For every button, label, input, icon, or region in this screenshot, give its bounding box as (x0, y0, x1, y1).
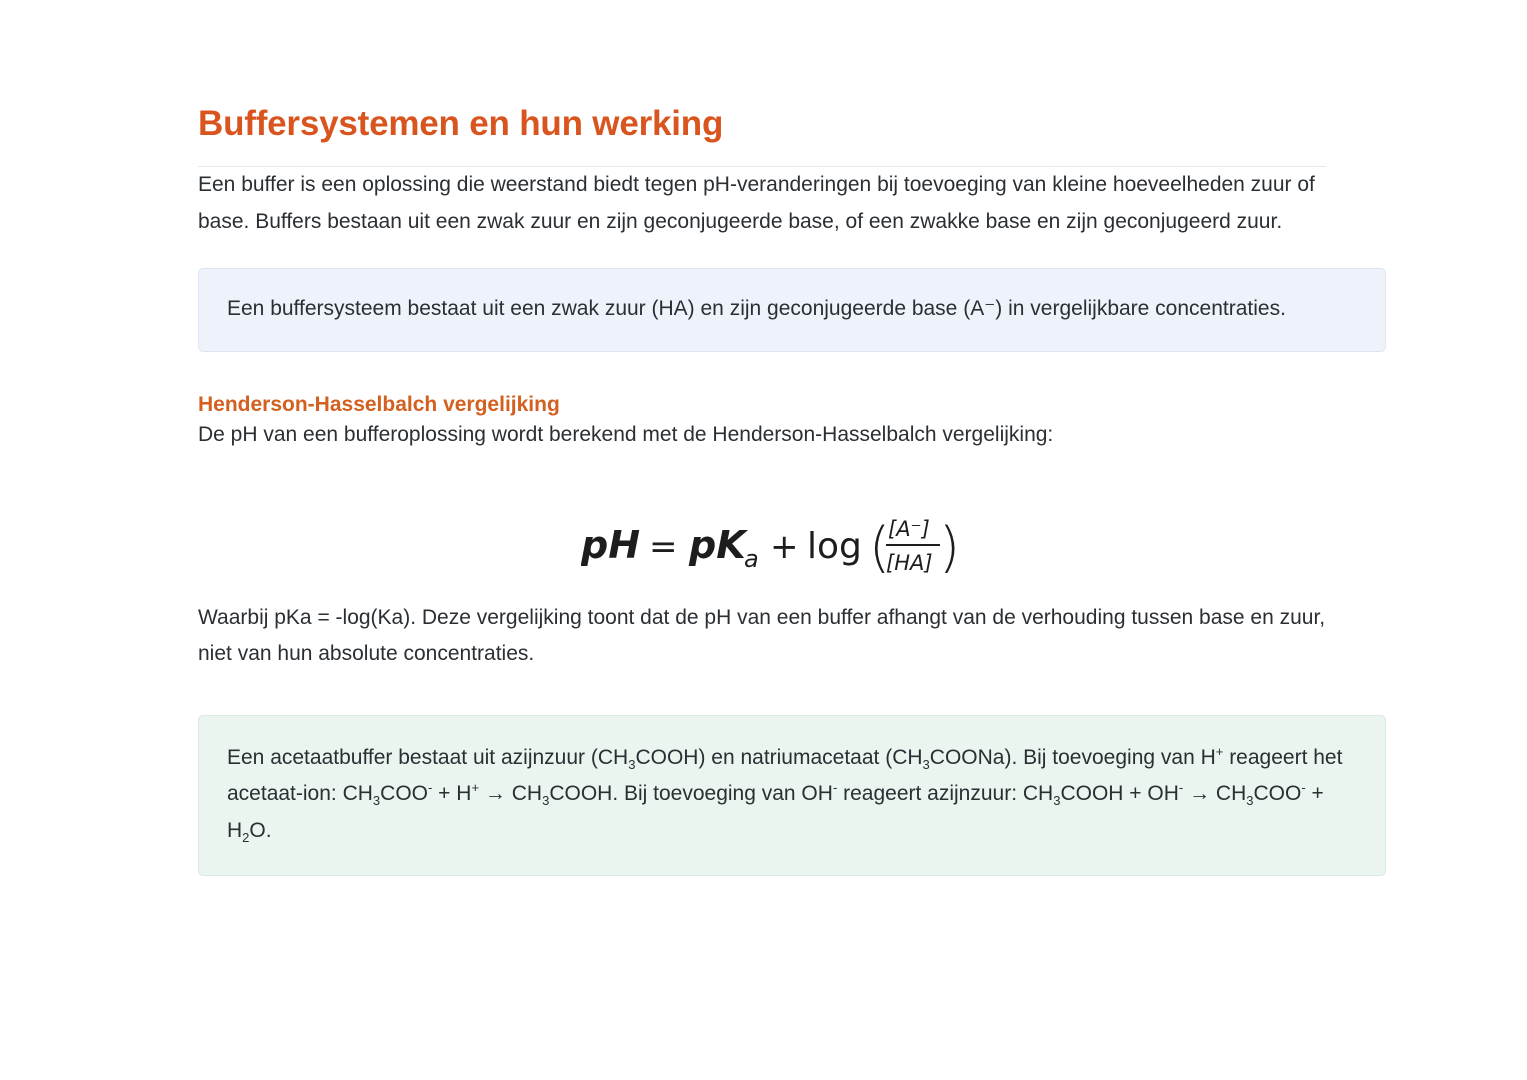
chem-subscript: 3 (923, 757, 930, 772)
formula-fraction-bar (886, 544, 940, 546)
chem-subscript: 3 (628, 757, 635, 772)
formula-block: pH = pK a + log ( [A⁻] [HA] ) (198, 488, 1343, 600)
chem-supscript: - (428, 780, 432, 795)
henderson-hasselbalch-formula-image: pH = pK a + log ( [A⁻] [HA] ) (581, 496, 961, 592)
chem-supscript: - (1301, 780, 1305, 795)
chem-supscript: - (1179, 780, 1183, 795)
formula-pk: pK (688, 523, 748, 567)
formula-log: log (807, 526, 862, 567)
chem-subscript: 3 (373, 794, 380, 809)
formula-pk-subscript: a (744, 545, 759, 573)
example-callout-green: Een acetaatbuffer bestaat uit azijnzuur … (198, 715, 1386, 877)
formula-equals: = (649, 527, 678, 567)
formula-plus: + (770, 527, 799, 567)
definition-callout-blue: Een buffersysteem bestaat uit een zwak z… (198, 268, 1386, 352)
formula-denominator: [HA] (886, 551, 933, 575)
chem-subscript: 3 (542, 794, 549, 809)
section-heading: Henderson-Hasselbalch vergelijking (198, 352, 1388, 417)
chem-subscript: 2 (242, 830, 249, 845)
formula-numerator: [A⁻] (888, 517, 930, 541)
chem-subscript: 3 (1246, 794, 1253, 809)
chem-supscript: - (833, 780, 837, 795)
chem-subscript: 3 (1053, 794, 1060, 809)
definition-callout-text: Een buffersysteem bestaat uit een zwak z… (227, 291, 1286, 328)
intro-paragraph: Een buffer is een oplossing die weerstan… (198, 167, 1343, 240)
page-title: Buffersystemen en hun werking (198, 0, 1388, 144)
after-formula-paragraph: Waarbij pKa = -log(Ka). Deze vergelijkin… (198, 600, 1343, 673)
formula-paren-close: ) (939, 516, 960, 579)
example-callout-text: Een acetaatbuffer bestaat uit azijnzuur … (227, 740, 1357, 850)
chem-supscript: + (1216, 744, 1224, 759)
section-lead-paragraph: De pH van een bufferoplossing wordt bere… (198, 417, 1343, 454)
document-content: Buffersystemen en hun werking Een buffer… (198, 0, 1388, 876)
chem-supscript: + (471, 780, 479, 795)
formula-ph: pH (581, 523, 640, 567)
document-page: Buffersystemen en hun werking Een buffer… (0, 0, 1527, 1080)
